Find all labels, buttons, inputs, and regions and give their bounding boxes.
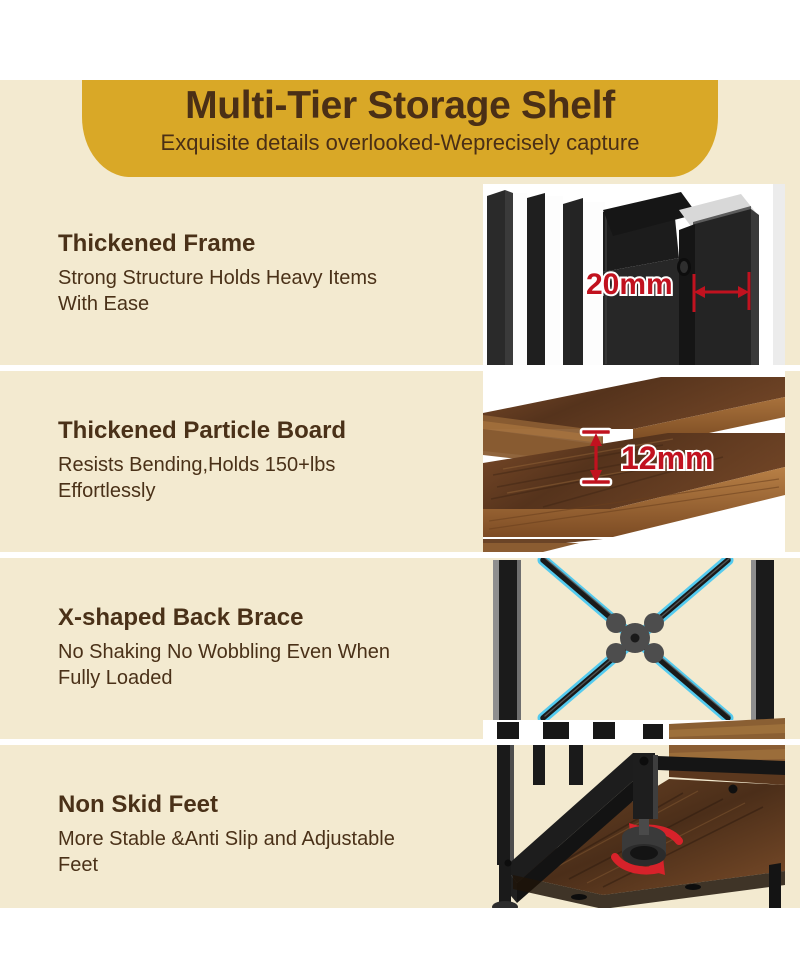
wood-board-illustration: 12mm xyxy=(483,371,785,552)
infographic-page: Multi-Tier Storage Shelf Exquisite detai… xyxy=(0,0,800,977)
feature-description: More Stable &Anti Slip and Adjustable Fe… xyxy=(58,826,418,879)
feature-image-metal-tube: 20mm xyxy=(483,184,785,365)
feature-description: No Shaking No Wobbling Even When Fully L… xyxy=(58,639,418,692)
x-brace-illustration xyxy=(483,558,785,739)
feature-text-block: Thickened Frame Strong Structure Holds H… xyxy=(58,184,468,365)
feature-description: Resists Bending,Holds 150+lbs Effortless… xyxy=(58,452,418,505)
dimension-label-20mm: 20mm xyxy=(586,268,673,301)
feature-row-thickened-frame: Thickened Frame Strong Structure Holds H… xyxy=(0,184,800,365)
feature-image-particle-board: 12mm xyxy=(483,371,785,552)
feature-text-block: Thickened Particle Board Resists Bending… xyxy=(58,371,468,552)
feature-description: Strong Structure Holds Heavy Items With … xyxy=(58,265,418,318)
feature-row-non-skid-feet: Non Skid Feet More Stable &Anti Slip and… xyxy=(0,745,800,926)
feature-text-block: Non Skid Feet More Stable &Anti Slip and… xyxy=(58,745,468,926)
feature-row-particle-board: Thickened Particle Board Resists Bending… xyxy=(0,371,800,552)
page-subtitle: Exquisite details overlooked-Weprecisely… xyxy=(82,129,718,155)
dimension-label-12mm: 12mm xyxy=(621,440,714,476)
feature-image-x-brace xyxy=(483,558,785,739)
bottom-whitespace xyxy=(0,908,800,977)
banner-zone: Multi-Tier Storage Shelf Exquisite detai… xyxy=(0,80,800,184)
feature-title: Thickened Frame xyxy=(58,231,468,257)
feature-rows: Thickened Frame Strong Structure Holds H… xyxy=(0,184,800,926)
feature-title: Thickened Particle Board xyxy=(58,418,468,444)
title-banner: Multi-Tier Storage Shelf Exquisite detai… xyxy=(82,80,718,177)
page-title: Multi-Tier Storage Shelf xyxy=(82,80,718,129)
feature-text-block: X-shaped Back Brace No Shaking No Wobbli… xyxy=(58,558,468,739)
feature-image-adjustable-foot xyxy=(483,745,785,926)
feature-title: Non Skid Feet xyxy=(58,792,468,818)
feature-row-x-brace: X-shaped Back Brace No Shaking No Wobbli… xyxy=(0,558,800,739)
adjustable-foot-illustration xyxy=(483,745,785,926)
feature-title: X-shaped Back Brace xyxy=(58,605,468,631)
metal-frame-illustration: 20mm xyxy=(483,184,785,365)
